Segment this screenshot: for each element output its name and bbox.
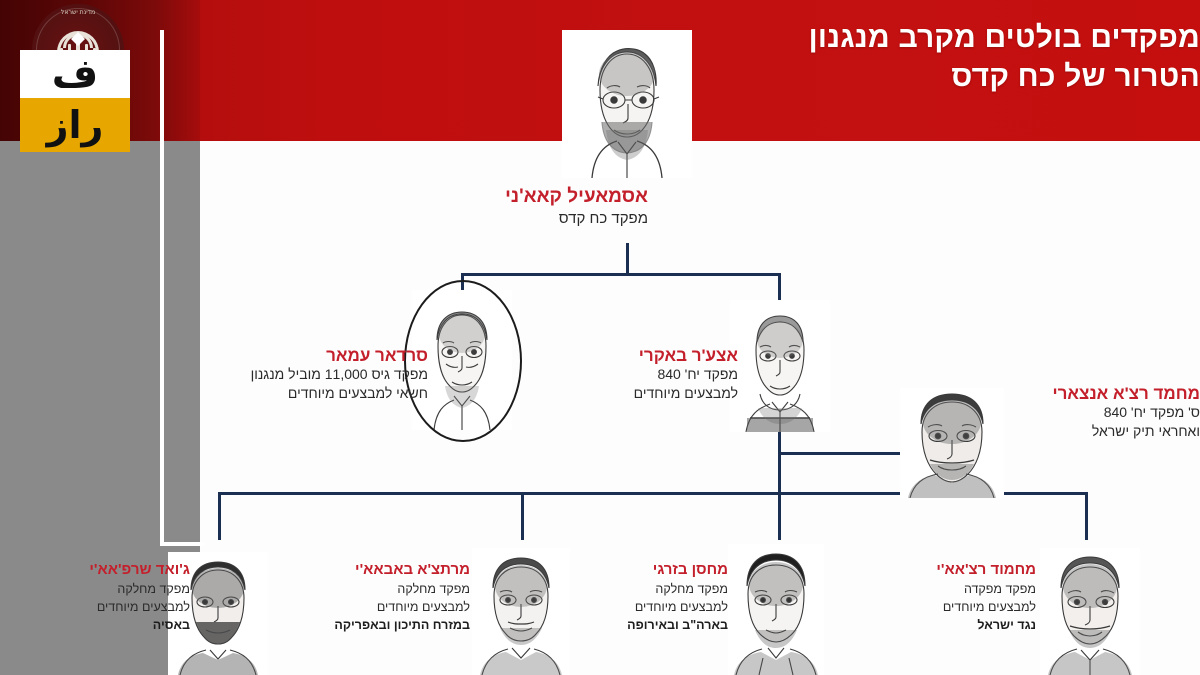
title-line-1: מפקדים בולטים מקרב מנגנון — [809, 21, 1200, 54]
node-name-bozorgi: מחסן בזרגי — [538, 562, 728, 579]
node-name-rezaei: מחמוד רצ'אא'י — [846, 562, 1036, 579]
logo-glyph-secondary: راز — [47, 106, 104, 144]
node-label-bozorgi: מחסן בזרגי מפקד מחלקה למבצעים מיוחדים בא… — [538, 562, 728, 633]
connector-to-babaei — [521, 492, 524, 540]
node-role-rezaei-line2: למבצעים מיוחדים — [846, 599, 1036, 615]
node-role-ammar-line1: מפקד גיס 11,000 מוביל מנגנון — [176, 366, 428, 384]
portrait-rezaei — [1040, 548, 1140, 675]
node-role-babaei-line1: מפקד מחלקה — [270, 581, 470, 597]
portrait-bozorgi — [728, 544, 824, 675]
node-name-sharifai: ג'ואד שרפ'אא'י — [12, 562, 190, 579]
node-role-ansari-line2: ואחראי תיק ישראל — [1004, 423, 1200, 441]
portrait-qaani — [562, 30, 692, 178]
portrait-bakeri — [730, 300, 830, 432]
logo-yellow-block: راز — [20, 98, 130, 152]
title-line-2: הטרור של כח קדס — [686, 57, 1200, 96]
node-name-ammar: סרדאר עמאר — [176, 346, 428, 365]
node-role-bozorgi-line1: מפקד מחלקה — [538, 581, 728, 597]
node-label-qaani: אסמאעיל קאא'ני מפקד כח קדס — [398, 186, 648, 228]
node-role-sharifai-line2: למבצעים מיוחדים — [12, 599, 190, 615]
logo-glyph-primary: ف — [52, 54, 98, 94]
connector-qaani-stem — [626, 243, 629, 275]
node-label-babaei: מרתצ'א באבאא'י מפקד מחלקה למבצעים מיוחדי… — [270, 562, 470, 633]
node-label-sharifai: ג'ואד שרפ'אא'י מפקד מחלקה למבצעים מיוחדי… — [12, 562, 190, 633]
connector-to-sharifai — [218, 492, 221, 540]
node-role-ansari-line1: ס' מפקד יח' 840 — [1004, 404, 1200, 422]
node-role-rezaei-line1: מפקד מפקדה — [846, 581, 1036, 597]
connector-to-rezaei — [1085, 492, 1088, 540]
node-emphasis-bozorgi: בארה"ב ובאירופה — [627, 618, 728, 632]
node-emphasis-sharifai: באסיה — [153, 618, 190, 632]
node-role-qaani-line1: מפקד כח קדס — [398, 209, 648, 228]
node-emphasis-babaei: במזרח התיכון ובאפריקה — [334, 618, 470, 632]
node-label-bakeri: אצע'ר באקרי מפקד יח' 840 למבצעים מיוחדים — [538, 346, 738, 403]
node-name-qaani: אסמאעיל קאא'ני — [398, 186, 648, 207]
connector-level1-bar — [461, 273, 781, 276]
node-name-babaei: מרתצ'א באבאא'י — [270, 562, 470, 579]
connector-to-ansari — [778, 452, 902, 455]
logo-white-block: ف — [20, 50, 130, 98]
node-role-bozorgi-line2: למבצעים מיוחדים — [538, 599, 728, 615]
node-role-sharifai-line1: מפקד מחלקה — [12, 581, 190, 597]
node-role-babaei-line2: למבצעים מיוחדים — [270, 599, 470, 615]
organization-logo: מדינת ישראל ف راز — [14, 4, 136, 156]
infographic-canvas: מדינת ישראל ف راز מפקדים בולטים מקרב מנג… — [0, 0, 1200, 675]
portrait-ansari — [900, 388, 1004, 498]
node-name-ansari: מחמד רצ'א אנצארי — [1004, 384, 1200, 403]
node-role-ammar-line2: חשאי למבצעים מיוחדים — [176, 385, 428, 403]
svg-text:מדינת ישראל: מדינת ישראל — [61, 9, 95, 16]
connector-to-bozorgi — [778, 492, 781, 540]
node-label-ammar: סרדאר עמאר מפקד גיס 11,000 מוביל מנגנון … — [176, 346, 428, 403]
node-emphasis-rezaei: נגד ישראל — [977, 618, 1036, 632]
node-role-bakeri-line1: מפקד יח' 840 — [538, 366, 738, 384]
node-name-bakeri: אצע'ר באקרי — [538, 346, 738, 365]
page-title: מפקדים בולטים מקרב מנגנון הטרור של כח קד… — [686, 18, 1200, 96]
node-label-rezaei: מחמוד רצ'אא'י מפקד מפקדה למבצעים מיוחדים… — [846, 562, 1036, 633]
node-role-bakeri-line2: למבצעים מיוחדים — [538, 385, 738, 403]
node-label-ansari: מחמד רצ'א אנצארי ס' מפקד יח' 840 ואחראי … — [1004, 384, 1200, 441]
